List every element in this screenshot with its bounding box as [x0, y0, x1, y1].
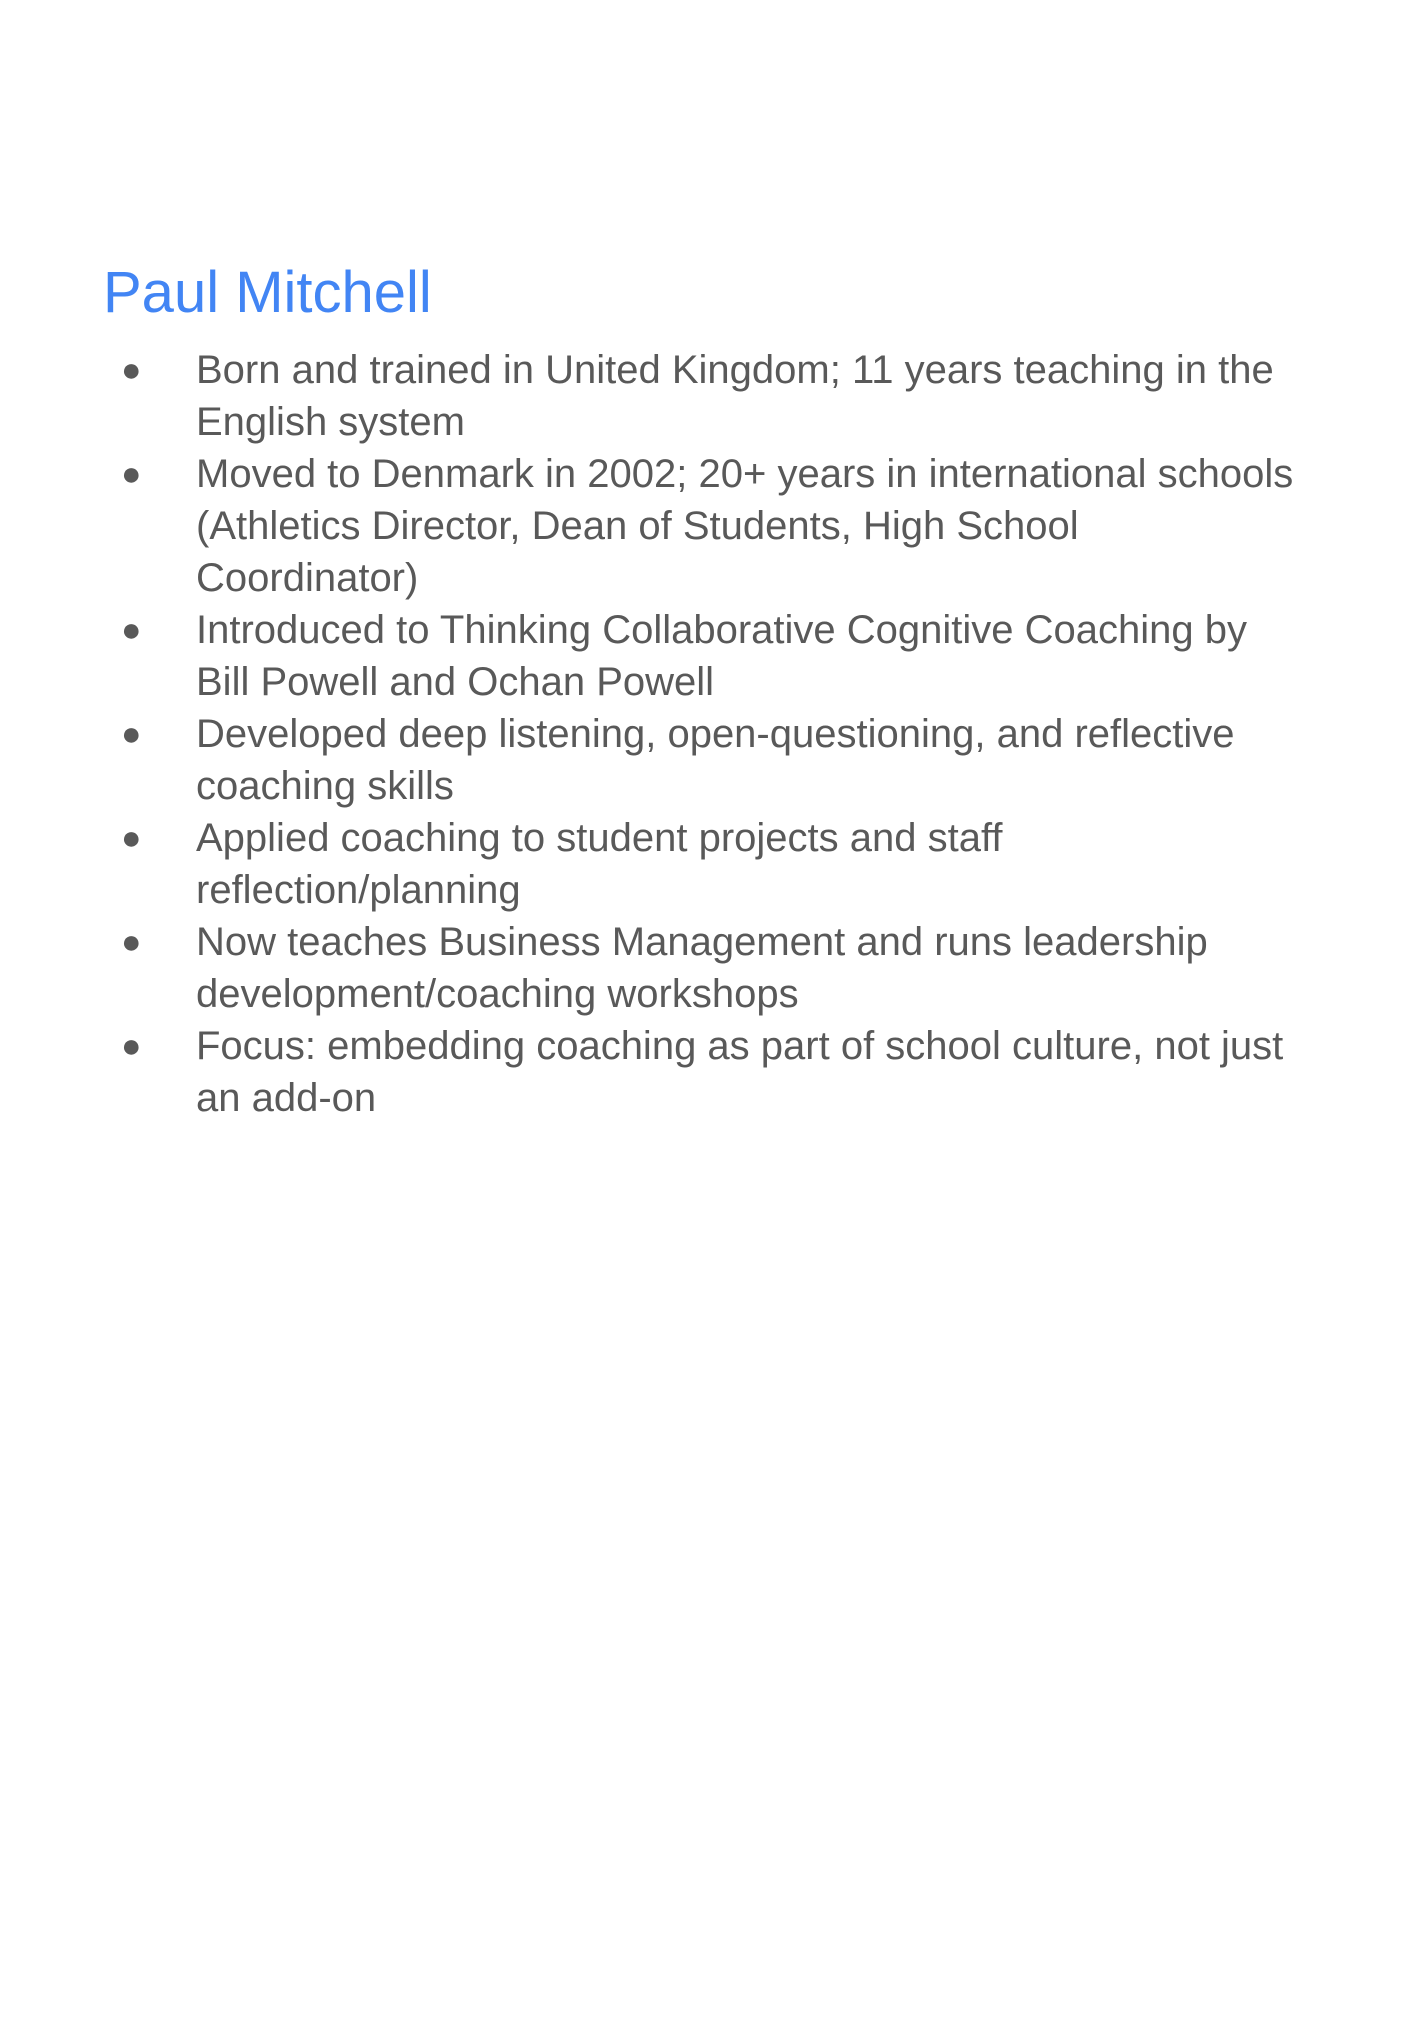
list-item-line: Introduced to Thinking Collaborative Cog…: [196, 604, 1428, 656]
list-item: ●Introduced to Thinking Collaborative Co…: [103, 604, 1428, 708]
bullet-point-icon: ●: [121, 812, 143, 864]
list-item: ●Moved to Denmark in 2002; 20+ years in …: [103, 448, 1428, 604]
list-item-line: English system: [196, 396, 1428, 448]
bullet-point-icon: ●: [121, 916, 143, 968]
list-item-line: Born and trained in United Kingdom; 11 y…: [196, 344, 1428, 396]
list-item: ●Focus: embedding coaching as part of sc…: [103, 1020, 1428, 1124]
list-item-line: Developed deep listening, open-questioni…: [196, 708, 1428, 760]
list-item-line: Moved to Denmark in 2002; 20+ years in i…: [196, 448, 1428, 500]
bullet-point-icon: ●: [121, 708, 143, 760]
list-item-text: Developed deep listening, open-questioni…: [196, 708, 1428, 812]
list-item-line: Bill Powell and Ochan Powell: [196, 656, 1428, 708]
list-item: ●Now teaches Business Management and run…: [103, 916, 1428, 1020]
list-item: ●Developed deep listening, open-question…: [103, 708, 1428, 812]
list-item-line: an add-on: [196, 1072, 1428, 1124]
bullet-list: ●Born and trained in United Kingdom; 11 …: [103, 344, 1428, 1124]
presentation-slide: Paul Mitchell ●Born and trained in Unite…: [0, 0, 1428, 2018]
list-item-line: Focus: embedding coaching as part of sch…: [196, 1020, 1428, 1072]
list-item-text: Moved to Denmark in 2002; 20+ years in i…: [196, 448, 1428, 604]
list-item: ●Born and trained in United Kingdom; 11 …: [103, 344, 1428, 448]
list-item-line: Now teaches Business Management and runs…: [196, 916, 1428, 968]
list-item-line: reflection/planning: [196, 864, 1428, 916]
list-item-text: Applied coaching to student projects and…: [196, 812, 1428, 916]
list-item-line: (Athletics Director, Dean of Students, H…: [196, 500, 1428, 552]
bullet-point-icon: ●: [121, 604, 143, 656]
list-item-text: Now teaches Business Management and runs…: [196, 916, 1428, 1020]
list-item-text: Born and trained in United Kingdom; 11 y…: [196, 344, 1428, 448]
bullet-point-icon: ●: [121, 344, 143, 396]
page-title: Paul Mitchell: [103, 257, 1343, 329]
list-item-line: Applied coaching to student projects and…: [196, 812, 1428, 864]
list-item-line: coaching skills: [196, 760, 1428, 812]
bullet-point-icon: ●: [121, 448, 143, 500]
list-item-text: Introduced to Thinking Collaborative Cog…: [196, 604, 1428, 708]
list-item-line: Coordinator): [196, 552, 1428, 604]
list-item-text: Focus: embedding coaching as part of sch…: [196, 1020, 1428, 1124]
list-item-line: development/coaching workshops: [196, 968, 1428, 1020]
bullet-point-icon: ●: [121, 1020, 143, 1072]
list-item: ●Applied coaching to student projects an…: [103, 812, 1428, 916]
